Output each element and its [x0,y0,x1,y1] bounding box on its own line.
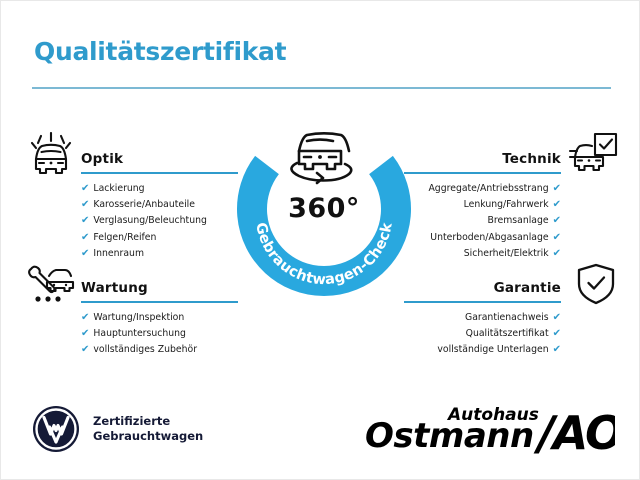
section-optik: Optik ✔Lackierung ✔Karosserie/Anbauteile… [81,144,238,262]
section-technik-list: Aggregate/Antriebsstrang✔ Lenkung/Fahrwe… [404,181,561,262]
section-garantie-header: Garantie [404,273,561,303]
list-item: Sicherheit/Elektrik✔ [404,246,561,262]
list-item: Unterboden/Abgasanlage✔ [404,230,561,246]
list-item-label: Hauptuntersuchung [93,328,186,339]
dealer-monogram: /AO [533,406,615,459]
check-icon: ✔ [81,215,89,226]
list-item-label: Lackierung [93,183,144,194]
list-item: ✔Verglasung/Beleuchtung [81,213,238,229]
list-item: vollständige Unterlagen✔ [404,342,561,358]
list-item: ✔Innenraum [81,246,238,262]
dealer-name-large: Ostmann [365,416,534,456]
section-wartung: Wartung ✔Wartung/Inspektion ✔Hauptunters… [81,273,238,359]
section-optik-underline [81,172,238,174]
list-item: ✔Hauptuntersuchung [81,326,238,342]
check-icon: ✔ [81,248,89,259]
list-item: ✔Karosserie/Anbauteile [81,197,238,213]
badge-ring: Gebrauchtwagen-Check [229,113,419,303]
page-title: Qualitätszertifikat [34,37,286,66]
check-icon: ✔ [553,232,561,243]
vw-logo [31,404,81,454]
list-item-label: Karosserie/Anbauteile [93,199,195,210]
list-item: Qualitätszertifikat✔ [404,326,561,342]
list-item: ✔vollständiges Zubehör [81,342,238,358]
check-icon: ✔ [553,183,561,194]
list-item: Garantienachweis✔ [404,310,561,326]
check-icon: ✔ [81,183,89,194]
shield-check-icon [575,262,617,306]
list-item-label: vollständiges Zubehör [93,344,197,355]
section-wartung-list: ✔Wartung/Inspektion ✔Hauptuntersuchung ✔… [81,310,238,359]
section-garantie-title: Garantie [494,280,561,296]
list-item-label: Verglasung/Beleuchtung [93,215,207,226]
list-item-label: Qualitätszertifikat [466,328,549,339]
list-item: ✔Felgen/Reifen [81,230,238,246]
section-technik-title: Technik [502,151,561,167]
list-item-label: Unterboden/Abgasanlage [430,232,548,243]
list-item: ✔Lackierung [81,181,238,197]
check-icon: ✔ [553,199,561,210]
check-icon: ✔ [553,248,561,259]
check-icon: ✔ [81,328,89,339]
section-technik-header: Technik [404,144,561,174]
list-item-label: Lenkung/Fahrwerk [464,199,549,210]
list-item: Bremsanlage✔ [404,213,561,229]
list-item-label: Wartung/Inspektion [93,312,184,323]
section-technik-underline [404,172,561,174]
check-icon: ✔ [553,328,561,339]
section-garantie-list: Garantienachweis✔ Qualitätszertifikat✔ v… [404,310,561,359]
car-checkbox-icon [568,132,618,178]
check-icon: ✔ [553,312,561,323]
check-icon: ✔ [553,215,561,226]
list-item-label: Bremsanlage [488,215,549,226]
section-technik: Technik Aggregate/Antriebsstrang✔ Lenkun… [404,144,561,262]
car-shine-icon [25,132,77,180]
list-item-label: Aggregate/Antriebsstrang [428,183,548,194]
section-garantie-underline [404,301,561,303]
section-wartung-underline [81,301,238,303]
list-item: Aggregate/Antriebsstrang✔ [404,181,561,197]
list-item-label: Garantienachweis [465,312,549,323]
vw-line-2: Gebrauchtwagen [93,429,203,444]
vw-certified-text: Zertifizierte Gebrauchtwagen [93,414,203,444]
vw-line-1: Zertifizierte [93,414,203,429]
section-wartung-header: Wartung [81,273,238,303]
section-optik-title: Optik [81,151,123,167]
badge-360-gebrauchtwagen-check: Gebrauchtwagen-Check 360° [229,113,419,303]
section-wartung-title: Wartung [81,280,148,296]
autohaus-ostmann-logo: Autohaus Ostmann /AO [360,399,615,459]
list-item-label: vollständige Unterlagen [437,344,548,355]
check-icon: ✔ [553,344,561,355]
check-icon: ✔ [81,312,89,323]
section-optik-list: ✔Lackierung ✔Karosserie/Anbauteile ✔Verg… [81,181,238,262]
wrench-car-icon [25,263,77,309]
check-icon: ✔ [81,199,89,210]
list-item: ✔Wartung/Inspektion [81,310,238,326]
dealer-logo-block: Autohaus Ostmann /AO [360,399,615,459]
vw-certified-logo-block: Zertifizierte Gebrauchtwagen [31,404,203,454]
quality-certificate-page: Qualitätszertifikat Optik ✔Lackierung ✔K… [0,0,640,480]
list-item-label: Innenraum [93,248,144,259]
list-item-label: Sicherheit/Elektrik [464,248,549,259]
list-item-label: Felgen/Reifen [93,232,156,243]
car-rotate-icon [291,133,351,183]
section-garantie: Garantie Garantienachweis✔ Qualitätszert… [404,273,561,359]
check-icon: ✔ [81,344,89,355]
section-optik-header: Optik [81,144,238,174]
title-divider [32,87,611,89]
list-item: Lenkung/Fahrwerk✔ [404,197,561,213]
check-icon: ✔ [81,232,89,243]
